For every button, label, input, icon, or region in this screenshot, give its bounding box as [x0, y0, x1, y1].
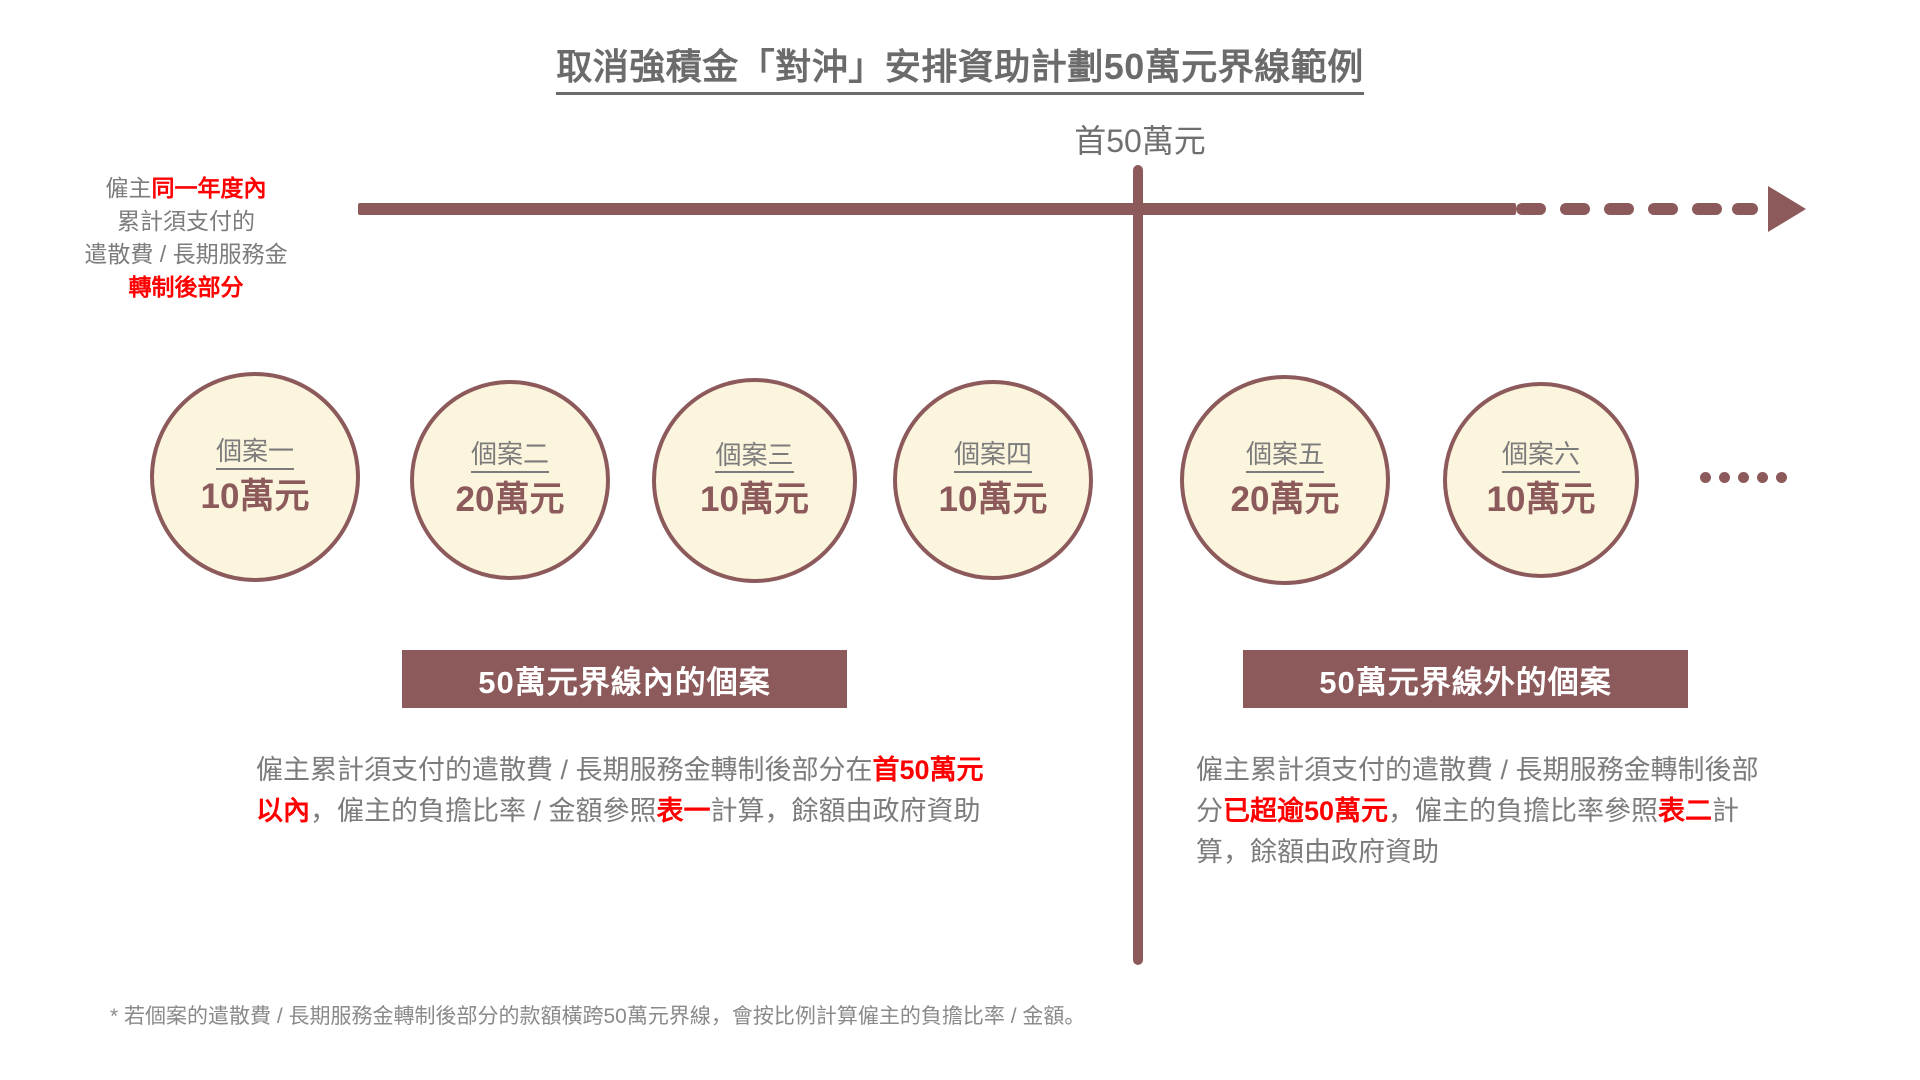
case-circle-3-amount: 10萬元: [700, 482, 809, 519]
case-circle-4-amount: 10萬元: [939, 482, 1048, 519]
axis-caption-line-4: 轉制後部分: [28, 271, 344, 304]
desc-left-seg-5: 計算，餘額由政府資助: [711, 796, 981, 826]
desc-right-seg-2-highlight: 已超逾50萬元: [1223, 796, 1388, 826]
axis-caption: 僱主同一年度內 累計須支付的 遣散費 / 長期服務金 轉制後部分: [28, 172, 344, 304]
axis-caption-line-1-plain: 僱主: [106, 175, 152, 201]
desc-right-seg-3: ，僱主的負擔比率參照: [1388, 796, 1658, 826]
case-circle-6-amount: 10萬元: [1487, 482, 1596, 519]
desc-left-seg-4-highlight: 表一: [657, 796, 711, 826]
more-cases-ellipsis-icon: [1700, 472, 1787, 483]
page-title: 取消強積金「對沖」安排資助計劃50萬元界線範例: [0, 38, 1920, 90]
footnote: * 若個案的遣散費 / 長期服務金轉制後部分的款額橫跨50萬元界線，會按比例計算…: [110, 1000, 1085, 1030]
desc-right-seg-4-highlight: 表二: [1658, 796, 1712, 826]
banner-beyond-threshold: 50萬元界線外的個案: [1243, 650, 1688, 708]
case-circle-1[interactable]: 個案一 10萬元: [150, 372, 360, 582]
banner-within-threshold-label: 50萬元界線內的個案: [478, 657, 770, 702]
case-circle-5-amount: 20萬元: [1231, 482, 1340, 519]
case-circle-5-name: 個案五: [1246, 441, 1324, 472]
case-circle-2-name: 個案二: [471, 441, 549, 472]
banner-within-threshold: 50萬元界線內的個案: [402, 650, 847, 708]
axis-line-solid: [358, 203, 1516, 215]
case-circle-4[interactable]: 個案四 10萬元: [893, 380, 1093, 580]
desc-left-seg-1: 僱主累計須支付的遣散費 / 長期服務金轉制後部分在: [256, 755, 873, 785]
case-circle-6-name: 個案六: [1502, 441, 1580, 472]
axis-line-dashed: [1516, 203, 1770, 215]
case-circle-2-amount: 20萬元: [456, 482, 565, 519]
threshold-divider-line: [1133, 165, 1143, 965]
threshold-label: 首50萬元: [950, 116, 1330, 162]
axis-caption-line-3: 遣散費 / 長期服務金: [28, 238, 344, 271]
case-circle-2[interactable]: 個案二 20萬元: [410, 380, 610, 580]
case-circle-1-name: 個案一: [216, 438, 294, 469]
axis-arrow-icon: [1768, 186, 1806, 232]
case-circle-3-name: 個案三: [715, 442, 793, 473]
case-circle-3[interactable]: 個案三 10萬元: [652, 378, 857, 583]
case-circle-1-amount: 10萬元: [201, 479, 310, 516]
axis-caption-line-1: 僱主同一年度內: [28, 172, 344, 205]
description-within-threshold: 僱主累計須支付的遣散費 / 長期服務金轉制後部分在首50萬元以內，僱主的負擔比率…: [256, 750, 996, 832]
axis-caption-line-1-highlight: 同一年度內: [152, 175, 267, 201]
banner-beyond-threshold-label: 50萬元界線外的個案: [1319, 657, 1611, 702]
case-circle-5[interactable]: 個案五 20萬元: [1180, 375, 1390, 585]
axis-caption-line-2: 累計須支付的: [28, 205, 344, 238]
infographic-canvas: 取消強積金「對沖」安排資助計劃50萬元界線範例 首50萬元 僱主同一年度內 累計…: [0, 0, 1920, 1080]
description-beyond-threshold: 僱主累計須支付的遣散費 / 長期服務金轉制後部分已超逾50萬元，僱主的負擔比率參…: [1196, 750, 1776, 873]
desc-left-seg-3: ，僱主的負擔比率 / 金額參照: [310, 796, 657, 826]
page-title-text: 取消強積金「對沖」安排資助計劃50萬元界線範例: [556, 46, 1364, 95]
case-circle-6[interactable]: 個案六 10萬元: [1443, 382, 1639, 578]
case-circle-4-name: 個案四: [954, 441, 1032, 472]
